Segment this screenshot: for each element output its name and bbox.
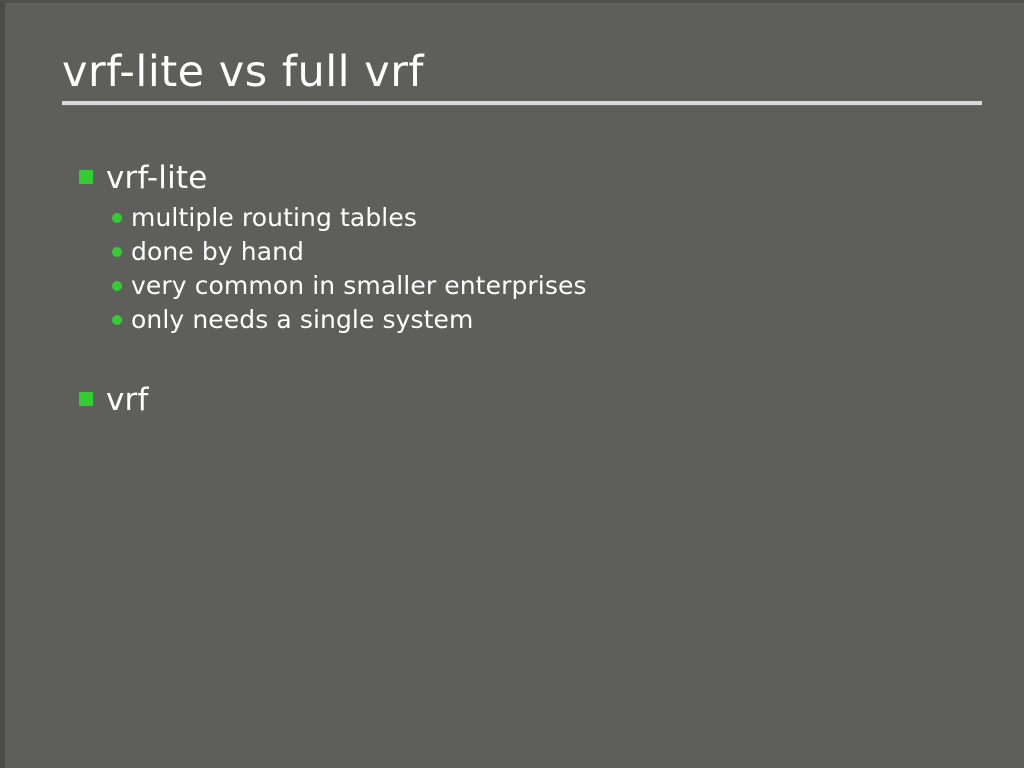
list-item: only needs a single system [112, 303, 999, 337]
list-item: very common in smaller enterprises [112, 269, 999, 303]
slide-title-block: vrf-lite vs full vrf [62, 47, 977, 97]
bullet-level1-vrf-lite: vrf-lite [79, 159, 999, 197]
dot-bullet-icon [112, 315, 122, 325]
bullet-level2-list: multiple routing tables done by hand ver… [79, 201, 999, 337]
dot-bullet-icon [112, 213, 122, 223]
dot-bullet-icon [112, 247, 122, 257]
square-bullet-icon [79, 392, 93, 406]
bullet-group-spacer [79, 337, 999, 381]
dot-bullet-icon [112, 281, 122, 291]
bullet-level1-label: vrf-lite [106, 159, 208, 197]
list-item: done by hand [112, 235, 999, 269]
bullet-level2-label: very common in smaller enterprises [131, 269, 587, 303]
presentation-slide: vrf-lite vs full vrf vrf-lite multiple r… [0, 0, 1024, 768]
title-underline-rule [62, 101, 982, 106]
bullet-level1-label: vrf [106, 381, 149, 419]
slide-body: vrf-lite multiple routing tables done by… [79, 159, 999, 423]
bullet-level2-label: multiple routing tables [131, 201, 417, 235]
bullet-level2-label: only needs a single system [131, 303, 473, 337]
page-title: vrf-lite vs full vrf [62, 47, 977, 97]
square-bullet-icon [79, 170, 93, 184]
bullet-level2-label: done by hand [131, 235, 304, 269]
bullet-level1-vrf: vrf [79, 381, 999, 419]
list-item: multiple routing tables [112, 201, 999, 235]
